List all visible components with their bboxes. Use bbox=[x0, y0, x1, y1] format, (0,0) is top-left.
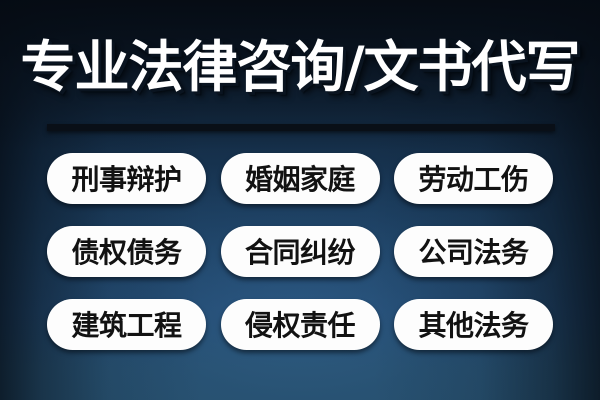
service-row: 建筑工程 侵权责任 其他法务 bbox=[47, 299, 553, 350]
service-pill-tort-liability[interactable]: 侵权责任 bbox=[221, 299, 380, 350]
service-pill-label: 债权债务 bbox=[71, 231, 181, 271]
service-pill-label: 侵权责任 bbox=[245, 304, 355, 344]
title-divider bbox=[47, 124, 555, 131]
service-pill-labor-injury[interactable]: 劳动工伤 bbox=[394, 153, 553, 204]
service-pill-marriage-family[interactable]: 婚姻家庭 bbox=[221, 153, 380, 204]
service-pill-label: 劳动工伤 bbox=[418, 158, 528, 198]
service-pill-contract-dispute[interactable]: 合同纠纷 bbox=[221, 226, 380, 277]
service-pill-other-legal[interactable]: 其他法务 bbox=[394, 299, 553, 350]
service-pill-label: 公司法务 bbox=[418, 231, 528, 271]
service-pill-label: 婚姻家庭 bbox=[245, 158, 355, 198]
service-pill-corporate-legal[interactable]: 公司法务 bbox=[394, 226, 553, 277]
page-title: 专业法律咨询/文书代写 bbox=[0, 28, 600, 106]
service-row: 刑事辩护 婚姻家庭 劳动工伤 bbox=[47, 153, 553, 204]
service-pill-label: 建筑工程 bbox=[71, 304, 181, 344]
service-category-grid: 刑事辩护 婚姻家庭 劳动工伤 债权债务 合同纠纷 公司法务 bbox=[47, 153, 553, 350]
service-pill-construction-engineering[interactable]: 建筑工程 bbox=[47, 299, 206, 350]
service-pill-criminal-defense[interactable]: 刑事辩护 bbox=[47, 153, 206, 204]
poster-content: 专业法律咨询/文书代写 刑事辩护 婚姻家庭 劳动工伤 债权债务 合同 bbox=[0, 0, 600, 400]
service-pill-label: 刑事辩护 bbox=[71, 158, 181, 198]
service-pill-label: 其他法务 bbox=[418, 304, 528, 344]
service-pill-creditor-debt[interactable]: 债权债务 bbox=[47, 226, 206, 277]
legal-services-poster: 专业法律咨询/文书代写 刑事辩护 婚姻家庭 劳动工伤 债权债务 合同 bbox=[0, 0, 600, 400]
service-row: 债权债务 合同纠纷 公司法务 bbox=[47, 226, 553, 277]
service-pill-label: 合同纠纷 bbox=[245, 231, 355, 271]
